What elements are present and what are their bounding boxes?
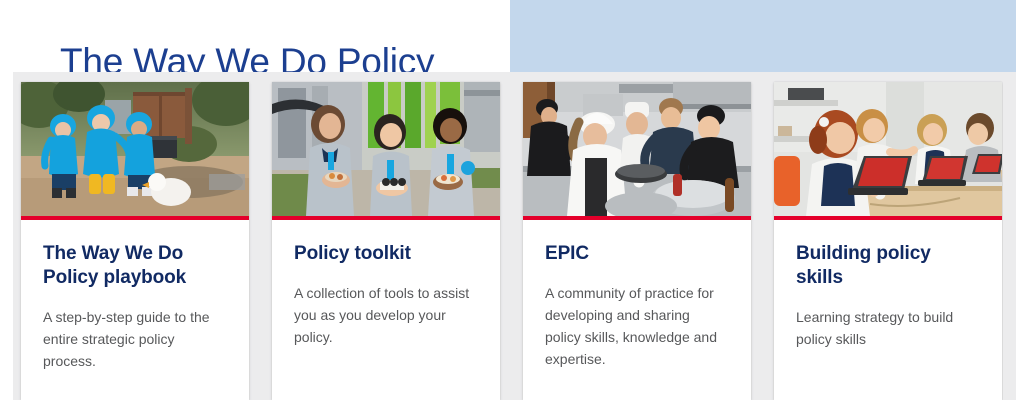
card-epic[interactable]: EPIC A community of practice for develop… — [523, 82, 751, 400]
card-description: A collection of tools to assist you as y… — [294, 282, 478, 348]
card-image-commercial-kitchen — [523, 82, 751, 216]
card-body: Policy toolkit A collection of tools to … — [272, 220, 500, 348]
card-strip: The Way We Do Policy playbook A step-by-… — [0, 72, 1016, 400]
card-body: Building policy skills Learning strategy… — [774, 220, 1002, 350]
card-image-classroom-laptops — [774, 82, 1002, 216]
card-body: EPIC A community of practice for develop… — [523, 220, 751, 370]
page-header: The Way We Do Policy — [0, 0, 1016, 72]
card-the-way-we-do-policy-playbook[interactable]: The Way We Do Policy playbook A step-by-… — [21, 82, 249, 400]
card-heading: The Way We Do Policy playbook — [43, 242, 227, 290]
page-root: The Way We Do Policy — [0, 0, 1016, 400]
card-policy-toolkit[interactable]: Policy toolkit A collection of tools to … — [272, 82, 500, 400]
card-body: The Way We Do Policy playbook A step-by-… — [21, 220, 249, 372]
header-accent-panel — [510, 0, 1016, 72]
strip-right-edge — [1003, 72, 1016, 400]
card-image-toddlers-rain-suits — [21, 82, 249, 216]
card-heading: Building policy skills — [796, 242, 980, 290]
card-building-policy-skills[interactable]: Building policy skills Learning strategy… — [774, 82, 1002, 400]
card-heading: EPIC — [545, 242, 729, 266]
card-heading: Policy toolkit — [294, 242, 478, 266]
card-image-students-with-food — [272, 82, 500, 216]
card-description: A community of practice for developing a… — [545, 282, 729, 370]
card-description: Learning strategy to build policy skills — [796, 306, 980, 350]
card-description: A step-by-step guide to the entire strat… — [43, 306, 227, 372]
